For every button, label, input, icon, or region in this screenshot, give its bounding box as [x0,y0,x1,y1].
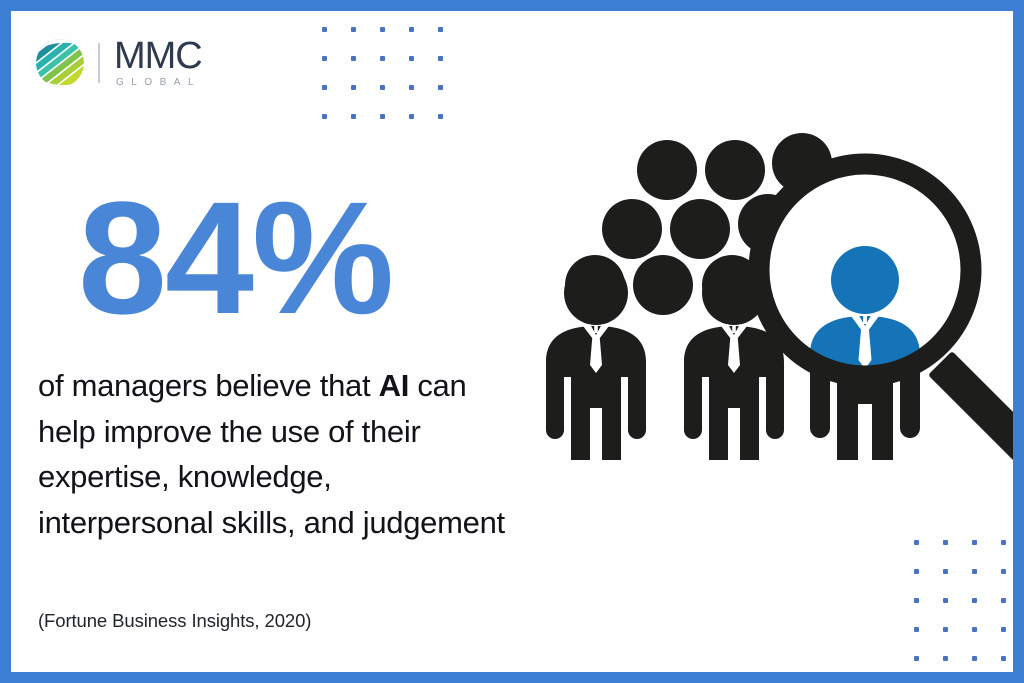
decor-dot [914,627,919,632]
dot-grid-bottom-decoration [914,540,1024,683]
stat-source-citation: (Fortune Business Insights, 2020) [38,610,311,632]
decor-dot [1001,540,1006,545]
decor-dot [438,85,443,90]
logo-wordmark: MMC GLOBAL [114,38,202,88]
infographic-canvas: MMC GLOBAL 84% of managers believe that … [0,0,1024,683]
logo-divider [98,43,100,83]
decor-dot [380,114,385,119]
decor-dot [322,85,327,90]
decor-dot [914,540,919,545]
decor-dot [438,56,443,61]
stat-description: of managers believe that AI can help imp… [38,363,508,545]
decor-dot [438,27,443,32]
decor-dot [438,114,443,119]
decor-dot [972,540,977,545]
decor-dot [409,114,414,119]
decor-dot [1001,627,1006,632]
decor-dot [351,56,356,61]
decor-dot [351,114,356,119]
decor-dot [409,56,414,61]
logo-title: MMC [114,38,202,74]
decor-dot [914,598,919,603]
decor-dot [409,27,414,32]
dot-grid-top-decoration [322,27,467,143]
brand-logo: MMC GLOBAL [34,37,202,89]
decor-dot [972,598,977,603]
decor-dot [380,85,385,90]
decor-dot [351,27,356,32]
stat-description-lead: of managers believe that [38,368,379,403]
stat-percentage: 84% [78,178,392,338]
decor-dot [380,56,385,61]
crowd-with-magnifier-illustration [540,130,1024,480]
decor-dot [943,627,948,632]
decor-dot [943,656,948,661]
decor-dot [943,569,948,574]
decor-dot [972,627,977,632]
decor-dot [380,27,385,32]
decor-dot [351,85,356,90]
decor-dot [409,85,414,90]
decor-dot [943,598,948,603]
decor-dot [322,27,327,32]
logo-subtitle: GLOBAL [116,77,202,88]
decor-dot [1001,598,1006,603]
decor-dot [322,114,327,119]
decor-dot [1001,656,1006,661]
mmc-sphere-logo-mark [34,37,86,89]
decor-dot [972,656,977,661]
decor-dot [914,569,919,574]
decor-dot [943,540,948,545]
decor-dot [1001,569,1006,574]
decor-dot [322,56,327,61]
magnifier-handle [928,351,1024,480]
stat-description-emphasis: AI [379,368,409,403]
decor-dot [972,569,977,574]
decor-dot [914,656,919,661]
